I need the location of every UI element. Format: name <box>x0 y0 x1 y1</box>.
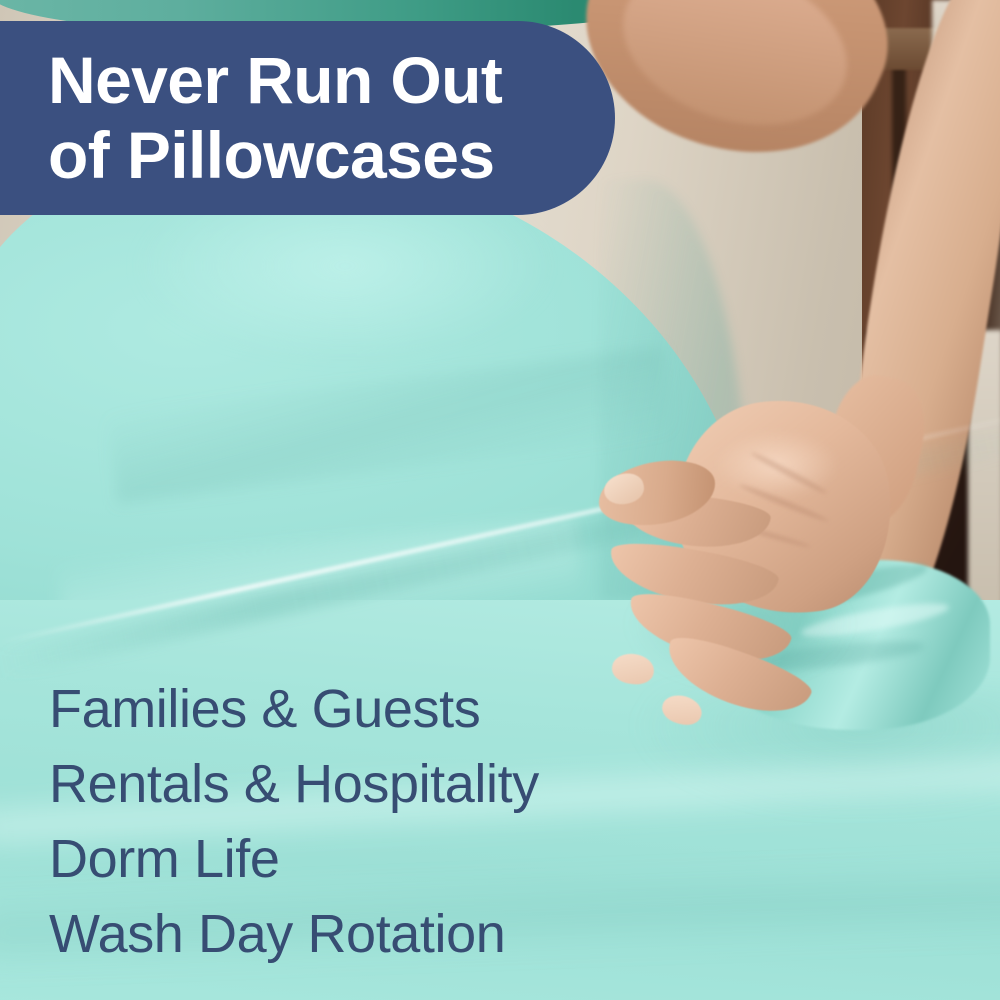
benefit-item-dorm-life: Dorm Life <box>49 822 689 897</box>
benefit-item-families-guests: Families & Guests <box>49 672 689 747</box>
headline-line-1: Never Run Out <box>48 43 615 118</box>
headline-line-2: of Pillowcases <box>48 118 615 193</box>
headline-banner: Never Run Out of Pillowcases <box>0 21 615 215</box>
pillow-highlight <box>120 190 620 380</box>
benefit-item-wash-day-rotation: Wash Day Rotation <box>49 897 689 972</box>
benefit-list: Families & Guests Rentals & Hospitality … <box>49 672 689 972</box>
knuckle-highlight <box>716 430 866 500</box>
benefit-item-rentals-hospitality: Rentals & Hospitality <box>49 747 689 822</box>
product-marketing-image: Never Run Out of Pillowcases Families & … <box>0 0 1000 1000</box>
